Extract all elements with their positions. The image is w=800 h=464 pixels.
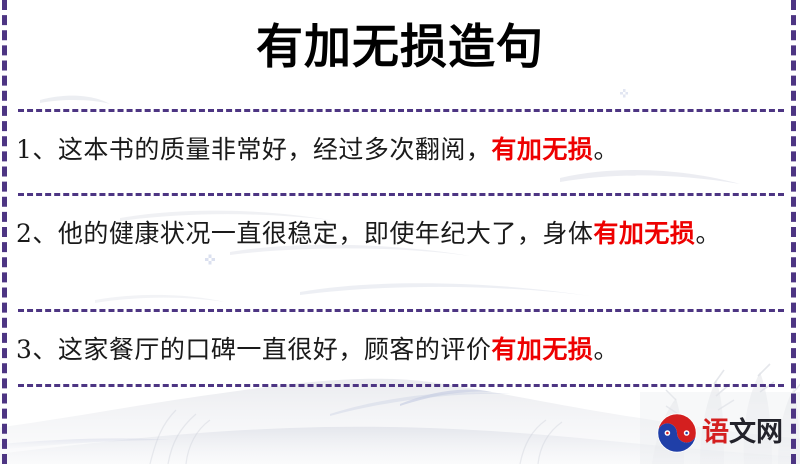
sentence-number-1: 1、 xyxy=(16,135,58,164)
separator-line-4 xyxy=(18,384,784,387)
separator-line-1 xyxy=(18,109,784,112)
sentence-item-2: 2、他的健康状况一直很稳定，即使年纪大了，身体有加无损。 xyxy=(16,212,786,256)
content-area: 有加无损造句 1、这本书的质量非常好，经过多次翻阅，有加无损。 2、他的健康状况… xyxy=(0,0,800,464)
frame-border-right xyxy=(791,0,796,464)
watermark-brand-text-rest: 文网 xyxy=(729,417,783,448)
site-watermark-logo: 语文网 xyxy=(657,410,792,456)
sentence-text-after-2: 。 xyxy=(695,219,721,248)
watermark-brand-text-first: 语 xyxy=(702,417,729,448)
sentence-text-before-3: 这家餐厅的口碑一直很好，顾客的评价 xyxy=(58,335,492,364)
separator-line-3 xyxy=(18,309,784,312)
sentence-number-2: 2、 xyxy=(16,219,58,248)
sentence-text-after-1: 。 xyxy=(593,135,619,164)
sentence-number-3: 3、 xyxy=(16,335,58,364)
separator-line-2 xyxy=(18,193,784,196)
keyword-highlight-2: 有加无损 xyxy=(593,219,695,248)
sentence-text-after-3: 。 xyxy=(593,335,619,364)
sentence-item-3: 3、这家餐厅的口碑一直很好，顾客的评价有加无损。 xyxy=(16,328,786,372)
worksheet-page: 有加无损造句 1、这本书的质量非常好，经过多次翻阅，有加无损。 2、他的健康状况… xyxy=(0,0,800,464)
sentence-text-before-1: 这本书的质量非常好，经过多次翻阅， xyxy=(58,135,492,164)
watermark-brand-text: 语文网 xyxy=(702,418,783,448)
sentence-item-1: 1、这本书的质量非常好，经过多次翻阅，有加无损。 xyxy=(16,128,786,172)
taiji-fish-circle-icon xyxy=(657,413,697,453)
frame-border-left xyxy=(2,0,7,464)
keyword-highlight-3: 有加无损 xyxy=(491,335,593,364)
sentence-text-before-2: 他的健康状况一直很稳定，即使年纪大了，身体 xyxy=(58,219,594,248)
keyword-highlight-1: 有加无损 xyxy=(491,135,593,164)
page-title: 有加无损造句 xyxy=(0,18,800,78)
